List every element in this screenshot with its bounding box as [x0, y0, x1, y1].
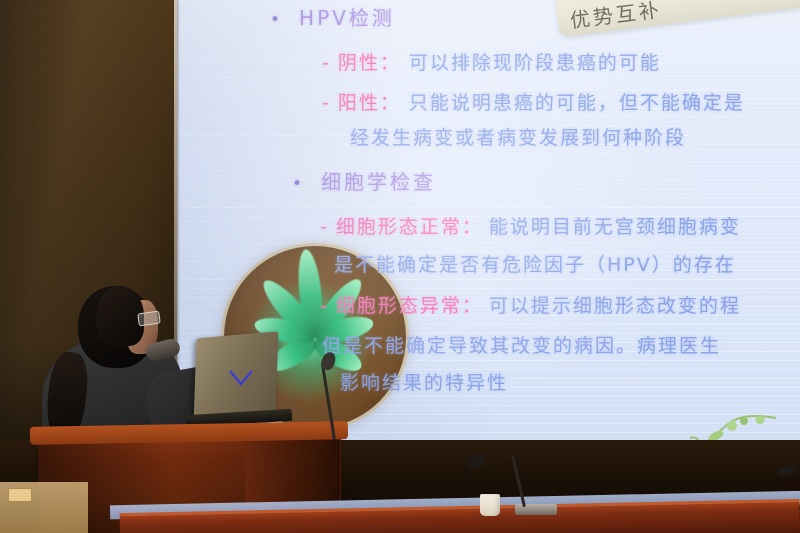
lecture-hall-photo: 优势互补 [0, 0, 800, 533]
laptop-logo-icon [228, 370, 254, 386]
cabinet-label [8, 488, 32, 502]
paper-cup [480, 494, 500, 516]
table-microphone-base [515, 504, 557, 515]
